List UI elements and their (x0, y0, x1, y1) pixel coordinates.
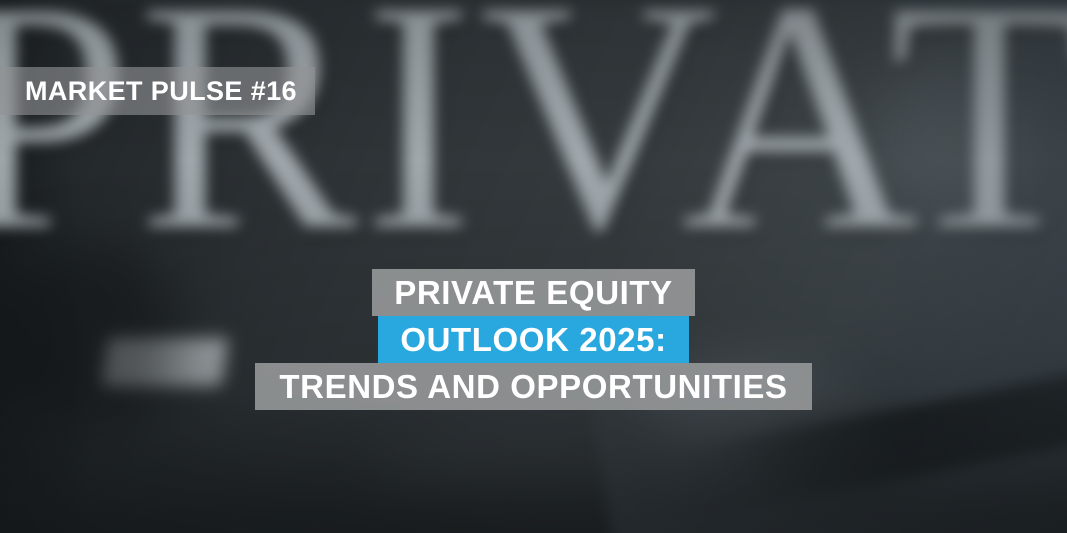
kicker-label: MARKET PULSE #16 (25, 76, 297, 107)
title-line-2: OUTLOOK 2025: (378, 316, 688, 363)
title-line-3: TRENDS AND OPPORTUNITIES (255, 363, 811, 410)
hero-banner: PRIVATE MARKET PULSE #16 PRIVATE EQUITY … (0, 0, 1067, 533)
title-stack: PRIVATE EQUITY OUTLOOK 2025: TRENDS AND … (0, 269, 1067, 410)
kicker-badge: MARKET PULSE #16 (0, 67, 315, 115)
title-line-1: PRIVATE EQUITY (372, 269, 695, 316)
